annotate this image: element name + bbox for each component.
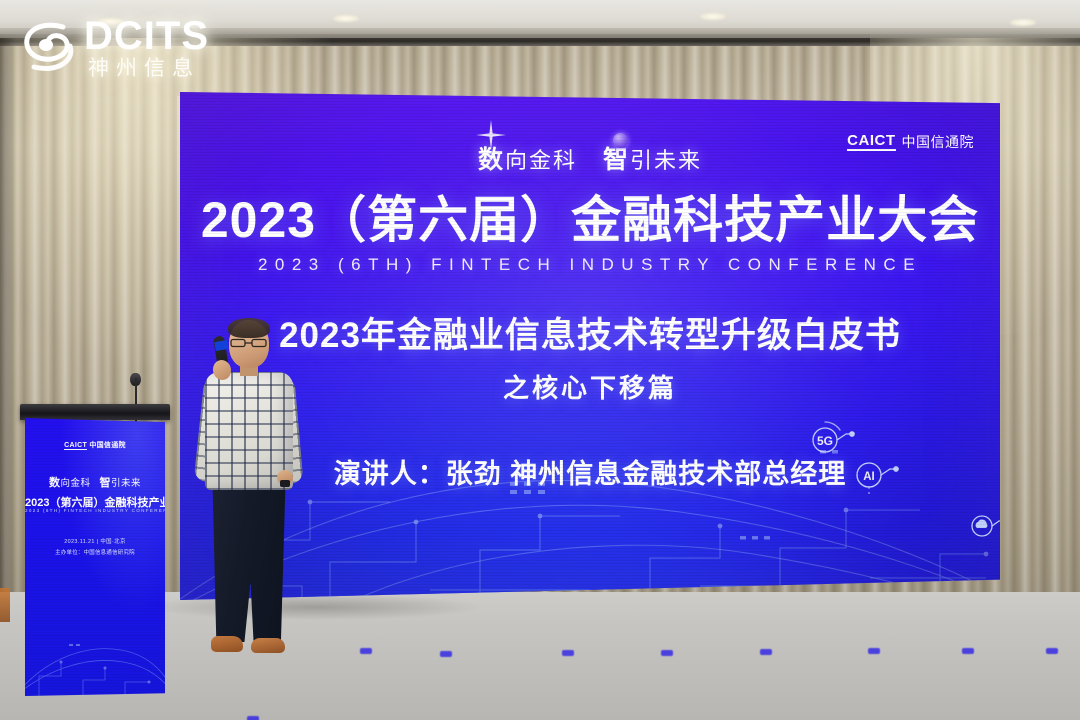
podium-tagline-p2b: 智 — [100, 477, 112, 489]
presentation-clicker-icon — [280, 480, 290, 487]
dcits-name-cn: 神州信息 — [88, 58, 200, 79]
ceiling-spotlight-icon — [1010, 19, 1036, 26]
podium-date-location: 2023.11.21 | 中国·北京 — [25, 537, 165, 545]
podium-host-line: 主办单位：中国信息通信研究院 — [25, 548, 165, 556]
conference-title-cn: 2023（第六届）金融科技产业大会 — [180, 192, 1000, 250]
5g-circuit-badge-icon: 5G — [804, 414, 856, 466]
tagline-part2-thin: 引未来 — [630, 148, 702, 173]
tagline-part1-bold: 数 — [478, 146, 505, 174]
left-wall-shadow — [0, 34, 16, 594]
floor-reflection — [1046, 648, 1058, 654]
podium-front-panel: CAICT 中国信通院 数向金科智引未来 2023（第六届）金融科技产业大会 2… — [25, 418, 165, 696]
tagline-part2-bold: 智 — [603, 146, 630, 174]
person-trousers — [211, 484, 287, 642]
podium-title-en: 2023 (6TH) FINTECH INDUSTRY CONFERENCE — [25, 508, 165, 513]
microphone-flag — [214, 340, 228, 351]
floor-reflection — [760, 649, 772, 655]
floor-edge-trim — [0, 588, 10, 622]
badge-ai-label: AI — [863, 471, 875, 483]
dcits-swirl-logo-icon — [18, 18, 80, 76]
podium-circuit-decoration — [25, 606, 165, 696]
cloud-circuit-badge-icon — [966, 504, 1000, 544]
conference-stage-photo: DCITS 神州信息 — [0, 0, 1080, 720]
podium-caict-badge: CAICT 中国信通院 — [25, 440, 165, 450]
floor-reflection — [562, 650, 574, 656]
tagline-part2-bold-wrap: 智 — [603, 140, 630, 176]
floor-reflection — [360, 648, 372, 654]
person-hair — [228, 318, 270, 338]
globe-accent-icon — [613, 133, 628, 148]
conference-title-en: 2023 (6TH) FINTECH INDUSTRY CONFERENCE — [180, 255, 1000, 275]
ceiling-spotlight-icon — [333, 15, 359, 22]
person-left-shoe — [211, 636, 243, 652]
floor-reflection — [247, 716, 259, 720]
ai-circuit-badge-icon: AI — [850, 450, 900, 500]
ceiling-spotlight-icon — [700, 13, 726, 20]
speaker-person — [185, 320, 315, 675]
podium-tagline: 数向金科智引未来 — [25, 474, 165, 490]
eyeglasses-icon — [230, 338, 269, 348]
podium-title-cn: 2023（第六届）金融科技产业大会 — [25, 494, 165, 510]
floor-reflection — [661, 650, 673, 656]
podium-caict-mark: CAICT — [64, 442, 87, 450]
podium-monitor — [20, 404, 170, 420]
podium-tagline-p2t: 引未来 — [111, 478, 141, 489]
dcits-name-en: DCITS — [84, 16, 209, 56]
floor-reflection — [868, 648, 880, 654]
floor-reflection — [440, 651, 452, 657]
dcits-wall-sign: DCITS 神州信息 — [18, 14, 228, 86]
tagline-part1-thin: 向金科 — [505, 148, 577, 173]
podium-caict-name-cn: 中国信通院 — [89, 442, 126, 449]
podium-tagline-p1b: 数 — [49, 477, 61, 489]
floor-reflection — [962, 648, 974, 654]
badge-5g-label: 5G — [817, 434, 833, 448]
person-right-shoe — [251, 638, 285, 653]
podium-tagline-p1t: 向金科 — [60, 478, 90, 489]
led-tagline: 数向金科智引未来 — [180, 140, 1000, 176]
